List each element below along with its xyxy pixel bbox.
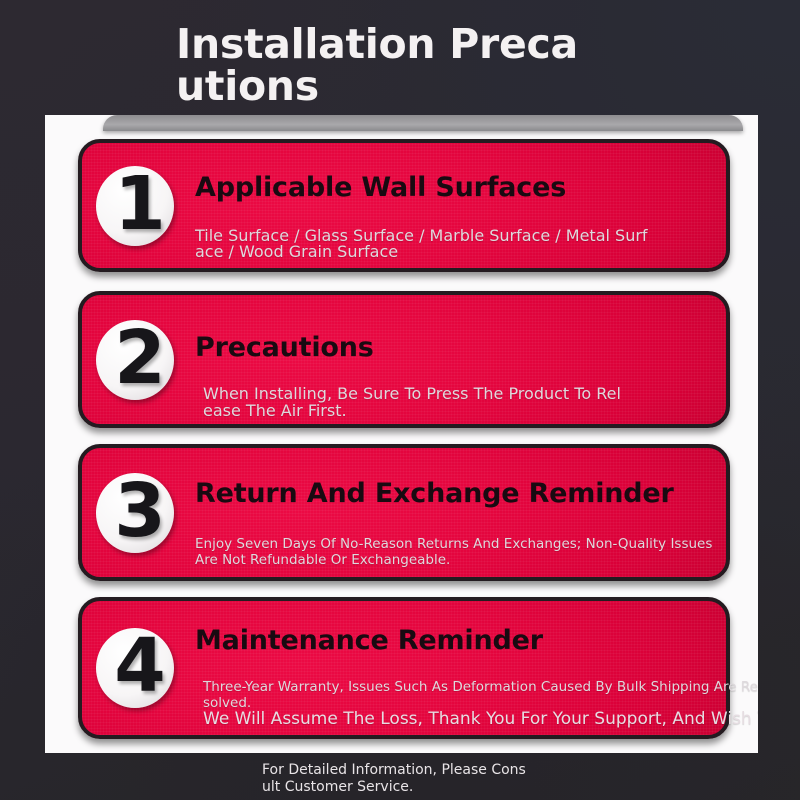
card-2-content: Precautions When Installing, Be Sure To … <box>195 295 726 424</box>
precaution-card-4[interactable]: 4 Maintenance Reminder Three-Year Warran… <box>78 597 730 739</box>
card-1-description: Tile Surface / Glass Surface / Marble Su… <box>195 228 650 261</box>
card-4-secondary-visible: We Will Assume The Loss, Thank You For Y… <box>203 709 758 729</box>
footer-note: For Detailed Information, Please Consult… <box>262 762 532 795</box>
card-2-heading: Precautions <box>195 332 374 363</box>
card-4-heading: Maintenance Reminder <box>195 625 543 656</box>
card-3-heading: Return And Exchange Reminder <box>195 478 674 509</box>
card-3-content: Return And Exchange Reminder Enjoy Seven… <box>195 448 726 577</box>
badge-numeral: 4 <box>94 624 176 712</box>
clipped-card-sliver <box>103 115 743 131</box>
card-4-description-secondary: We Will Assume The Loss, Thank You For Y… <box>203 709 758 729</box>
content-panel: 1 Applicable Wall Surfaces Tile Surface … <box>45 115 758 753</box>
badge-numeral: 1 <box>94 162 176 250</box>
card-2-description: When Installing, Be Sure To Press The Pr… <box>203 385 623 420</box>
precaution-card-3[interactable]: 3 Return And Exchange Reminder Enjoy Sev… <box>78 444 730 581</box>
card-3-description: Enjoy Seven Days Of No-Reason Returns An… <box>195 537 715 568</box>
page-title: Installation Precautions <box>176 24 591 108</box>
precaution-card-2[interactable]: 2 Precautions When Installing, Be Sure T… <box>78 291 730 428</box>
card-3-number-badge: 3 <box>94 469 176 557</box>
card-1-heading: Applicable Wall Surfaces <box>195 172 566 203</box>
badge-numeral: 3 <box>94 469 176 557</box>
card-2-number-badge: 2 <box>94 316 176 404</box>
card-4-content: Maintenance Reminder Three-Year Warranty… <box>195 601 726 735</box>
card-1-content: Applicable Wall Surfaces Tile Surface / … <box>195 143 726 268</box>
card-4-description: Three-Year Warranty, Issues Such As Defo… <box>203 679 758 711</box>
card-4-number-badge: 4 <box>94 624 176 712</box>
precaution-card-1[interactable]: 1 Applicable Wall Surfaces Tile Surface … <box>78 139 730 272</box>
badge-numeral: 2 <box>94 316 176 404</box>
card-1-number-badge: 1 <box>94 162 176 250</box>
